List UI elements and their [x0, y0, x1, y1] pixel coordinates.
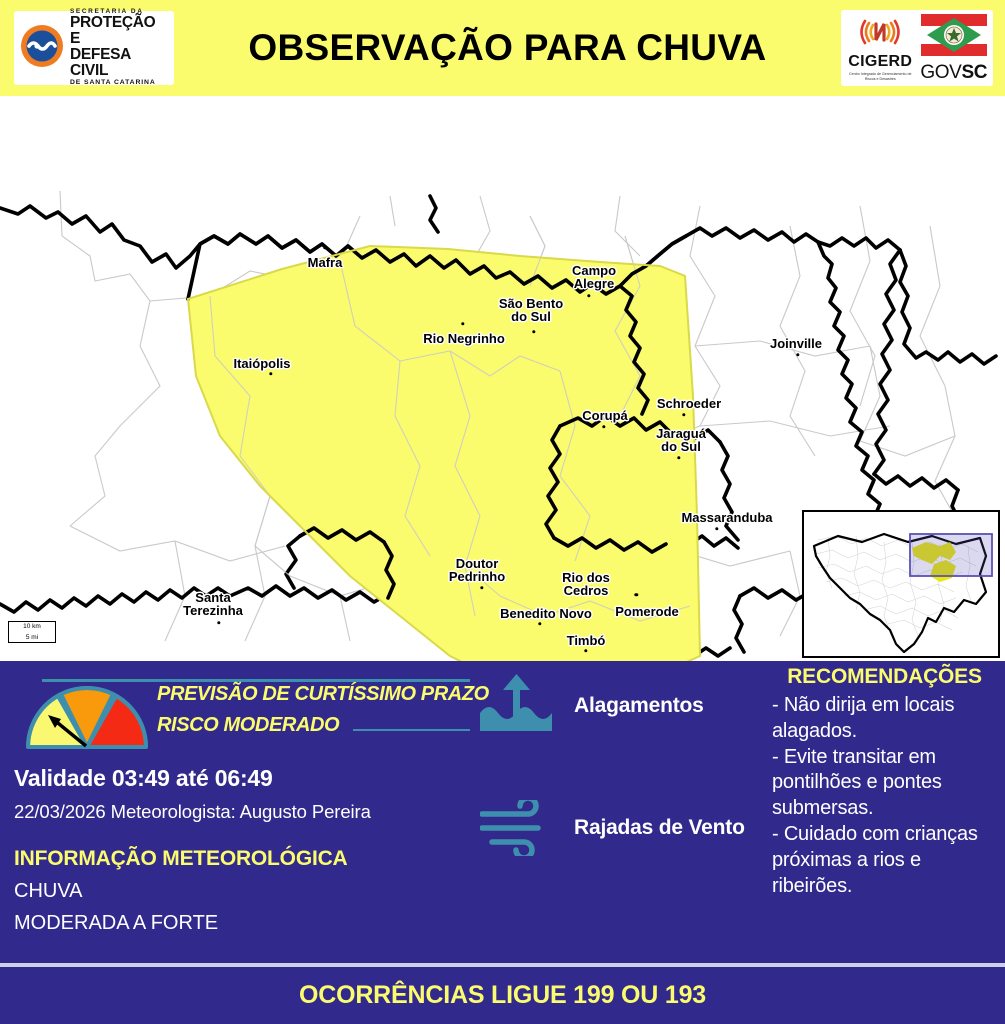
govsc-wordmark: GOVSC	[920, 63, 987, 82]
cigerd-mark-icon	[856, 15, 904, 54]
govsc-logo: GOVSC	[920, 14, 989, 82]
risk-gauge	[22, 683, 152, 751]
alert-map[interactable]: MafraCampo AlegreSão Bento do SulRio Neg…	[0, 96, 1005, 661]
hazard-label-wind: Rajadas de Vento	[574, 816, 745, 840]
emergency-phone-text: OCORRÊNCIAS LIGUE 199 OU 193	[299, 981, 706, 1010]
alert-infographic: SECRETARIA DA PROTEÇÃO E DEFESA CIVIL DE…	[0, 0, 1005, 1024]
meteorological-info-line2: MODERADA A FORTE	[14, 912, 470, 935]
inset-vector	[804, 512, 1000, 657]
info-panel: PREVISÃO DE CURTÍSSIMO PRAZO RISCO MODER…	[0, 661, 1005, 959]
recommendations-column: RECOMENDAÇÕES - Não dirija em locais ala…	[772, 665, 997, 899]
risk-level-label: RISCO MODERADO	[157, 714, 339, 737]
defesa-civil-emblem-icon	[20, 24, 64, 73]
divider-mid	[353, 729, 470, 732]
state-locator-inset[interactable]	[802, 510, 1000, 658]
date-meteorologist-text: 22/03/2026 Meteorologista: Augusto Perei…	[14, 801, 470, 823]
hazard-label-flood: Alagamentos	[574, 694, 704, 718]
divider-top	[42, 679, 470, 682]
cigerd-govsc-logo: CIGERD Centro Integrado de Gerenciamento…	[841, 10, 993, 86]
footer-banner: OCORRÊNCIAS LIGUE 199 OU 193	[0, 967, 1005, 1024]
validity-text: Validade 03:49 até 06:49	[14, 765, 470, 792]
logo-protecao-label: PROTEÇÃO E	[70, 15, 168, 46]
cigerd-subtitle: Centro Integrado de Gerenciamento de Ris…	[846, 72, 915, 81]
inset-extent-box	[910, 534, 992, 576]
defesa-civil-logo: SECRETARIA DA PROTEÇÃO E DEFESA CIVIL DE…	[14, 11, 174, 85]
wind-gust-icon	[480, 795, 554, 861]
hazard-item-wind: Rajadas de Vento	[480, 795, 760, 861]
recommendations-list: - Não dirija em locais alagados. - Evite…	[772, 693, 997, 899]
meteorological-info-line1: CHUVA	[14, 880, 470, 903]
scale-mi-label: 5 mi	[26, 634, 38, 641]
forecast-headings: PREVISÃO DE CURTÍSSIMO PRAZO RISCO MODER…	[157, 683, 470, 737]
santa-catarina-flag-icon	[921, 14, 987, 61]
cigerd-logo: CIGERD Centro Integrado de Gerenciamento…	[846, 15, 915, 81]
forecast-column: PREVISÃO DE CURTÍSSIMO PRAZO RISCO MODER…	[14, 669, 470, 935]
recommendation-item: - Evite transitar em pontilhões e pontes…	[772, 745, 997, 822]
meteorological-info-heading: INFORMAÇÃO METEOROLÓGICA	[14, 847, 470, 871]
recommendation-item: - Cuidado com crianças próximas a rios e…	[772, 822, 997, 899]
header-banner: SECRETARIA DA PROTEÇÃO E DEFESA CIVIL DE…	[0, 0, 1005, 96]
forecast-title: PREVISÃO DE CURTÍSSIMO PRAZO	[157, 683, 470, 706]
logo-defesa-civil-label: DEFESA CIVIL	[70, 47, 168, 78]
risk-gauge-row: PREVISÃO DE CURTÍSSIMO PRAZO RISCO MODER…	[14, 683, 470, 751]
hazards-column: Alagamentos Rajadas de Vento	[480, 673, 760, 861]
recommendation-item: - Não dirija em locais alagados.	[772, 693, 997, 745]
cigerd-wordmark: CIGERD	[848, 54, 912, 70]
logo-santa-catarina-label: DE SANTA CATARINA	[70, 80, 168, 87]
recommendations-title: RECOMENDAÇÕES	[772, 665, 997, 689]
govsc-gov-text: GOV	[920, 62, 961, 83]
page-title: OBSERVAÇÃO PARA CHUVA	[174, 28, 841, 68]
scale-km-label: 10 km	[23, 623, 41, 630]
map-scale-bar: 10 km 5 mi	[8, 621, 56, 643]
govsc-sc-text: SC	[961, 62, 987, 83]
flood-icon	[480, 673, 554, 739]
hazard-item-flood: Alagamentos	[480, 673, 760, 739]
